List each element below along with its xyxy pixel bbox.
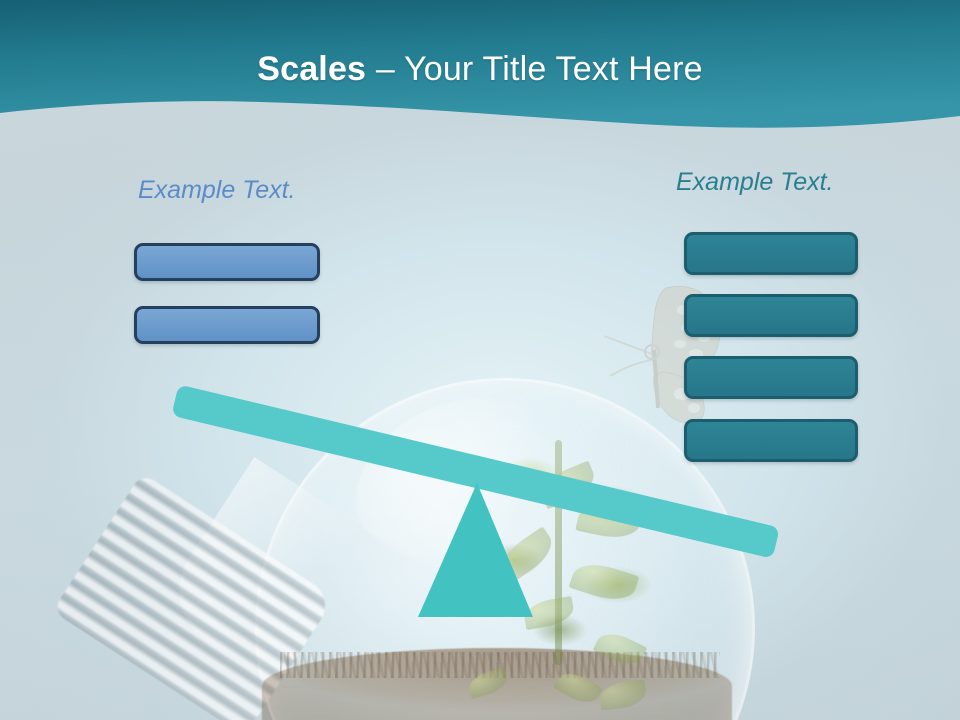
page-title-strong: Scales xyxy=(257,50,366,88)
page-title: Scales – Your Title Text Here xyxy=(0,50,960,89)
page-title-rest: – Your Title Text Here xyxy=(366,50,703,88)
right-bar-4[interactable] xyxy=(684,419,858,462)
caption-left[interactable]: Example Text. xyxy=(138,176,295,205)
right-bar-3[interactable] xyxy=(684,356,858,399)
right-bar-1[interactable] xyxy=(684,232,858,275)
left-bar-2[interactable] xyxy=(134,306,320,344)
caption-right[interactable]: Example Text. xyxy=(676,168,833,197)
left-bar-1[interactable] xyxy=(134,243,320,281)
right-bar-2[interactable] xyxy=(684,294,858,337)
slide-canvas: Scales – Your Title Text Here Example Te… xyxy=(0,0,960,720)
header-banner: Scales – Your Title Text Here xyxy=(0,0,960,150)
